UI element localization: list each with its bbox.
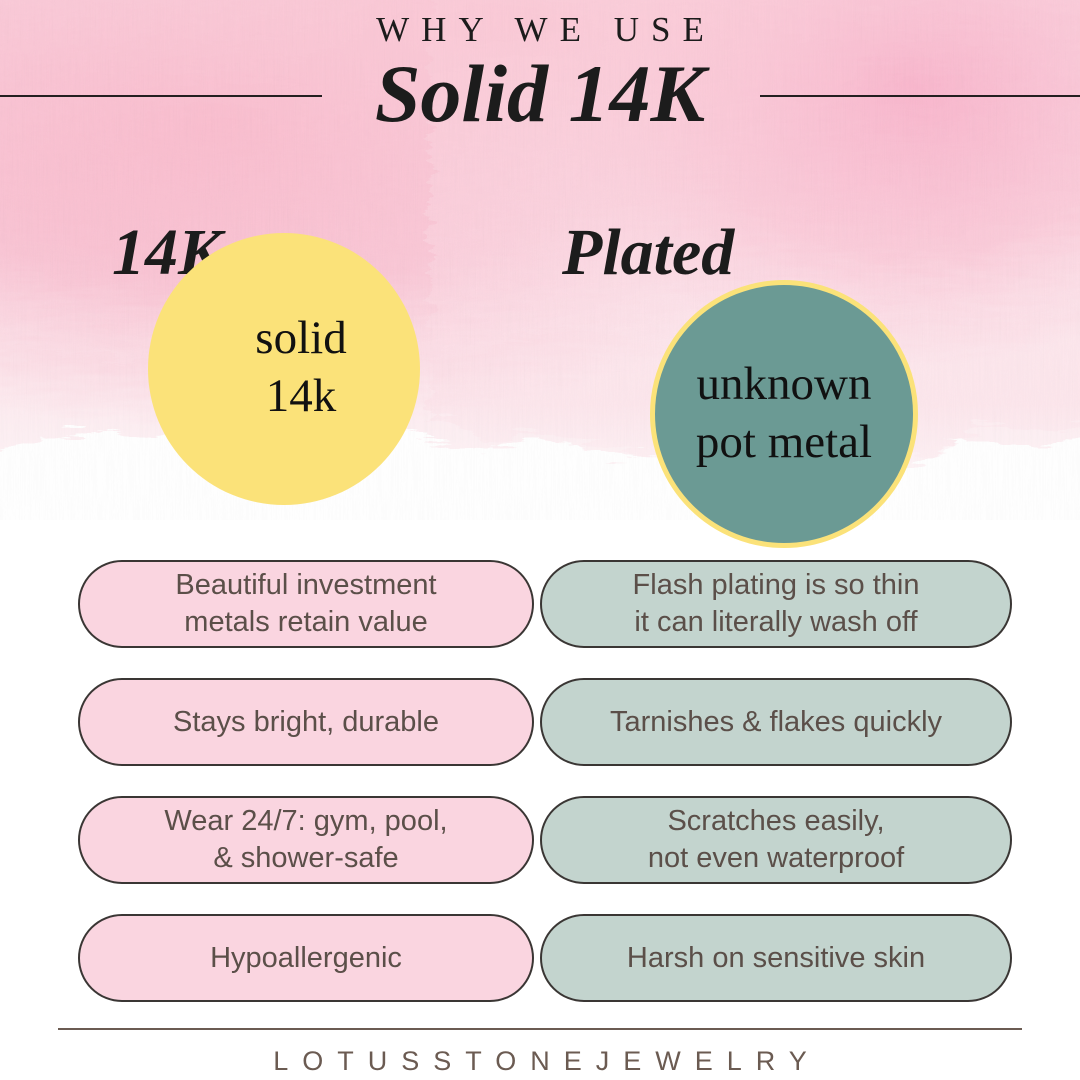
pill-pro: Stays bright, durable [78, 678, 534, 766]
comparison-row: Wear 24/7: gym, pool, & shower-safe Scra… [0, 796, 1080, 914]
brand-name: LOTUSSTONEJEWELRY [0, 1046, 1080, 1077]
label-plated: Plated [562, 218, 734, 288]
infographic-canvas: WHY WE USE Solid 14K 14K solid 14k Plate… [0, 0, 1080, 1080]
pill-con-text: Harsh on sensitive skin [627, 940, 925, 977]
circle-plated-text: unknown pot metal [696, 355, 872, 473]
pill-con: Tarnishes & flakes quickly [540, 678, 1012, 766]
pill-pro: Beautiful investment metals retain value [78, 560, 534, 648]
pill-con-text: Tarnishes & flakes quickly [610, 704, 942, 741]
page-title: Solid 14K [0, 46, 1080, 142]
pill-pro-text: Stays bright, durable [173, 704, 439, 741]
pill-con: Harsh on sensitive skin [540, 914, 1012, 1002]
header: WHY WE USE Solid 14K [0, 0, 1080, 150]
comparison-pill-grid: Beautiful investment metals retain value… [0, 560, 1080, 1032]
pill-pro: Hypoallergenic [78, 914, 534, 1002]
footer: LOTUSSTONEJEWELRY [0, 1018, 1080, 1080]
pill-con: Scratches easily, not even waterproof [540, 796, 1012, 884]
pill-pro-text: Beautiful investment metals retain value [175, 567, 436, 641]
pill-pro-text: Wear 24/7: gym, pool, & shower-safe [164, 803, 447, 877]
footer-divider [58, 1028, 1022, 1030]
pill-pro-text: Hypoallergenic [210, 940, 402, 977]
comparison-row: Beautiful investment metals retain value… [0, 560, 1080, 678]
circle-solid-14k: solid 14k [148, 233, 420, 505]
circle-solid-14k-text: solid 14k [221, 309, 346, 429]
comparison-row: Hypoallergenic Harsh on sensitive skin [0, 914, 1080, 1032]
comparison-circles: 14K solid 14k Plated unknown pot metal [0, 200, 1080, 520]
comparison-row: Stays bright, durable Tarnishes & flakes… [0, 678, 1080, 796]
pill-con-text: Flash plating is so thin it can literall… [633, 567, 920, 641]
pill-con-text: Scratches easily, not even waterproof [648, 803, 904, 877]
pill-pro: Wear 24/7: gym, pool, & shower-safe [78, 796, 534, 884]
pill-con: Flash plating is so thin it can literall… [540, 560, 1012, 648]
circle-plated: unknown pot metal [650, 280, 918, 548]
